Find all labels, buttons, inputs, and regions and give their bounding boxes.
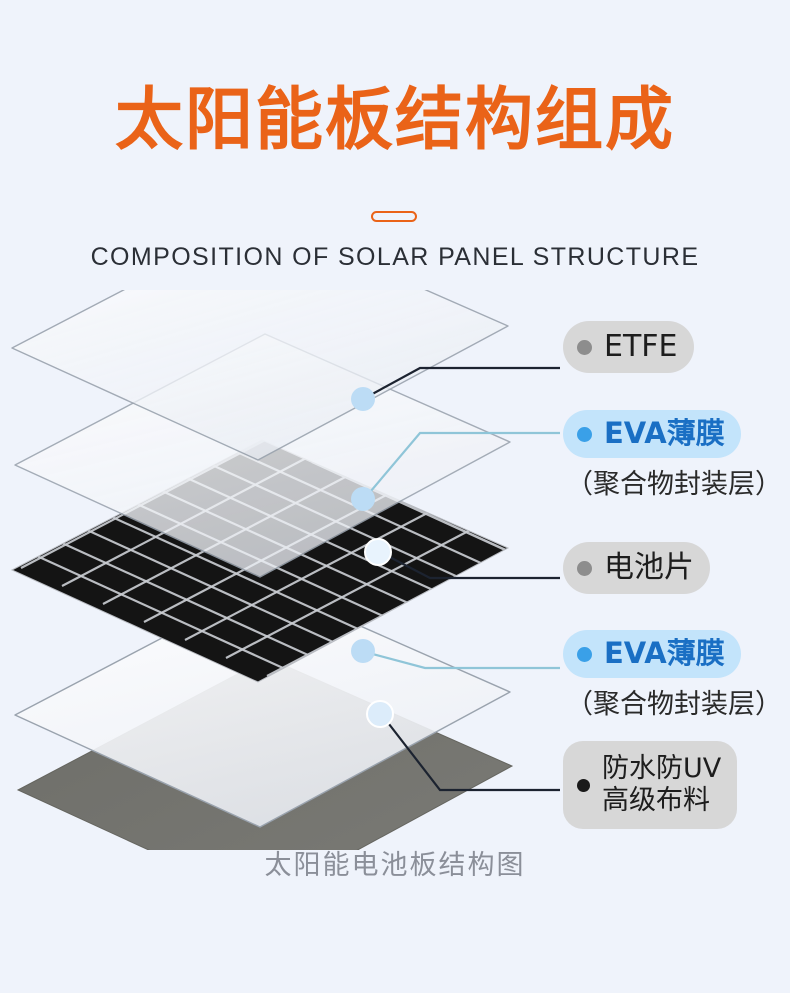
label-eva-top-text: EVA薄膜 [604,417,725,451]
callout-dot-etfe [351,387,375,411]
label-etfe-text: ETFE [604,330,678,365]
label-eva-top-sub: （聚合物封装层） [566,462,782,501]
bullet-dot-icon [577,340,592,355]
bullet-dot-icon [577,647,592,662]
page-title: 太阳能板结构组成 [0,84,790,157]
label-etfe[interactable]: ETFE [563,321,694,373]
label-cell[interactable]: 电池片 [563,542,710,594]
label-backsheet[interactable]: 防水防UV 高级布料 [563,741,737,829]
label-eva-top[interactable]: EVA薄膜 [563,410,741,458]
title-divider [371,211,417,222]
callout-dot-backsheet [367,701,393,727]
label-backsheet-line2: 高级布料 [602,785,710,816]
exploded-layer-diagram [0,290,560,850]
label-backsheet-text: 防水防UV 高级布料 [602,753,721,818]
bullet-dot-icon [577,561,592,576]
callout-dot-eva-top [351,487,375,511]
label-eva-bottom-sub: （聚合物封装层） [566,682,782,721]
label-backsheet-line1: 防水防UV [602,753,721,784]
label-eva-bottom-text: EVA薄膜 [604,637,725,671]
label-eva-bottom[interactable]: EVA薄膜 [563,630,741,678]
bullet-dot-icon [577,427,592,442]
diagram-caption: 太阳能电池板结构图 [0,843,790,882]
infographic-page: 太阳能板结构组成 COMPOSITION OF SOLAR PANEL STRU… [0,0,790,993]
page-subtitle: COMPOSITION OF SOLAR PANEL STRUCTURE [0,243,790,272]
label-cell-text: 电池片 [604,551,694,586]
callout-dot-eva-bottom [351,639,375,663]
callout-dot-cell [365,539,391,565]
bullet-dot-icon [577,779,590,792]
